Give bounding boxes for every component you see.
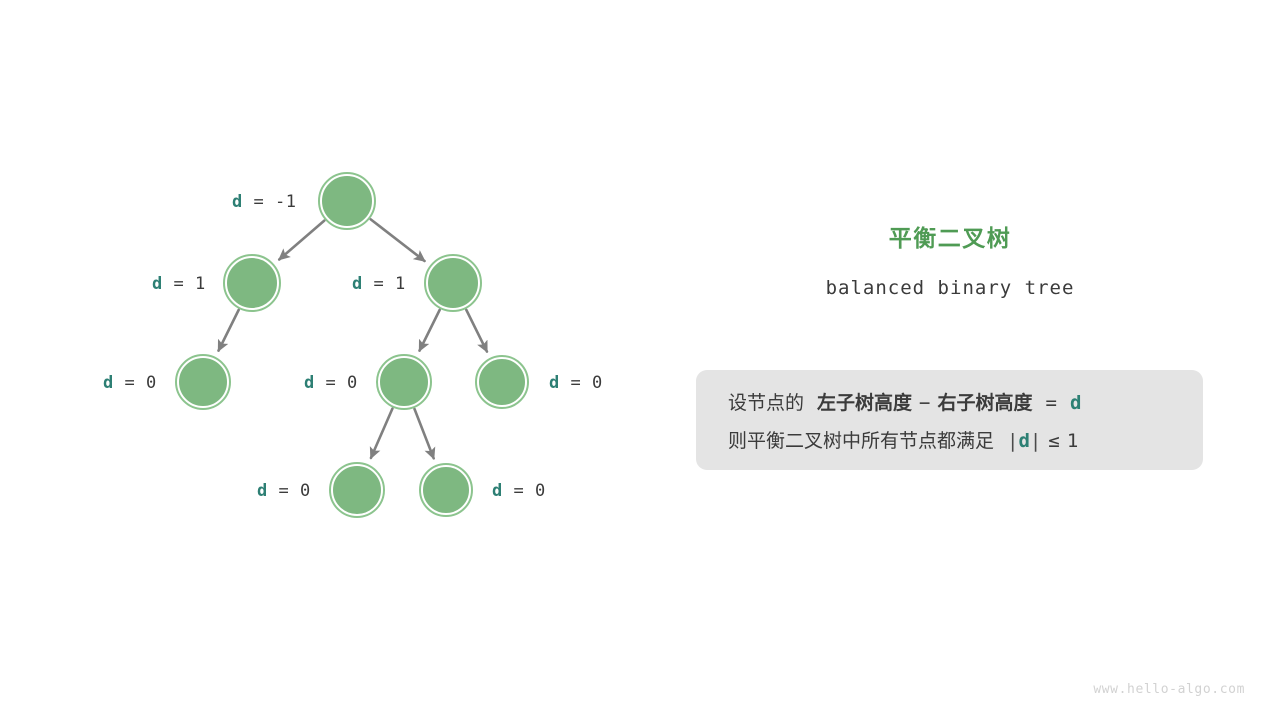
less-equal-operator: ≤: [1048, 430, 1059, 452]
tree-node-n-l[interactable]: [225, 256, 279, 310]
d-symbol: d: [103, 373, 114, 393]
panel-subtitle: balanced binary tree: [696, 277, 1204, 299]
d-symbol: d: [257, 481, 268, 501]
d-symbol: d: [152, 274, 163, 294]
right-subtree-height-term: 右子树高度: [937, 392, 1032, 414]
tree-node-root[interactable]: [320, 174, 374, 228]
tree-edge: [371, 409, 392, 458]
balance-factor-label-n-rll: d = 0: [257, 483, 311, 500]
tree-edge: [415, 409, 434, 458]
definition-line-1: 设节点的左子树高度−右子树高度=d: [728, 394, 1081, 413]
d-symbol: d: [304, 373, 315, 393]
d-symbol: d: [1018, 430, 1029, 452]
tree-node-n-r[interactable]: [426, 256, 480, 310]
tree-node-n-rlr[interactable]: [421, 465, 471, 515]
watermark: www.hello-algo.com: [1093, 682, 1245, 697]
balance-factor-label-n-l: d = 1: [152, 276, 206, 293]
d-symbol: d: [232, 192, 243, 212]
balance-factor-label-n-rr: d = 0: [549, 375, 603, 392]
balance-factor-value: = 0: [560, 373, 603, 393]
balance-condition-prefix: 则平衡二叉树中所有节点都满足: [728, 430, 994, 452]
balance-factor-label-n-rlr: d = 0: [492, 483, 546, 500]
balance-factor-value: = 0: [114, 373, 157, 393]
abs-bar-open: |: [1007, 430, 1018, 452]
d-symbol: d: [492, 481, 503, 501]
d-symbol: d: [1070, 392, 1081, 414]
definition-line-2: 则平衡二叉树中所有节点都满足|d|≤1: [728, 432, 1078, 451]
binary-tree-diagram: d = -1d = 1d = 1d = 0d = 0d = 0d = 0d = …: [0, 0, 1280, 720]
tree-node-n-rr[interactable]: [477, 357, 527, 407]
d-symbol: d: [352, 274, 363, 294]
balance-factor-label-n-ll: d = 0: [103, 375, 157, 392]
tree-edge: [219, 310, 239, 351]
info-panel: 平衡二叉树 balanced binary tree: [696, 225, 1204, 299]
balance-limit-value: 1: [1067, 430, 1078, 452]
balance-factor-label-n-r: d = 1: [352, 276, 406, 293]
balance-factor-value: = 0: [268, 481, 311, 501]
definition-prefix: 设节点的: [728, 392, 804, 414]
equals-operator: =: [1046, 392, 1057, 414]
balance-factor-label-n-rl: d = 0: [304, 375, 358, 392]
left-subtree-height-term: 左子树高度: [817, 392, 912, 414]
balance-factor-value: = 0: [503, 481, 546, 501]
tree-node-n-rll[interactable]: [331, 464, 383, 516]
minus-operator: −: [919, 392, 930, 414]
tree-edge: [420, 310, 440, 351]
balance-factor-label-root: d = -1: [232, 194, 296, 211]
d-symbol: d: [549, 373, 560, 393]
tree-node-n-rl[interactable]: [378, 356, 430, 408]
balance-factor-value: = -1: [243, 192, 297, 212]
tree-edge: [279, 221, 324, 260]
tree-edge: [466, 310, 487, 352]
tree-edge: [371, 219, 425, 261]
abs-bar-close: |: [1030, 430, 1041, 452]
panel-title: 平衡二叉树: [696, 225, 1204, 255]
balance-factor-value: = 1: [363, 274, 406, 294]
balance-factor-value: = 1: [163, 274, 206, 294]
diagram-canvas: d = -1d = 1d = 1d = 0d = 0d = 0d = 0d = …: [0, 0, 1280, 720]
balance-factor-value: = 0: [315, 373, 358, 393]
tree-node-n-ll[interactable]: [177, 356, 229, 408]
definition-box: 设节点的左子树高度−右子树高度=d 则平衡二叉树中所有节点都满足|d|≤1: [696, 370, 1203, 470]
